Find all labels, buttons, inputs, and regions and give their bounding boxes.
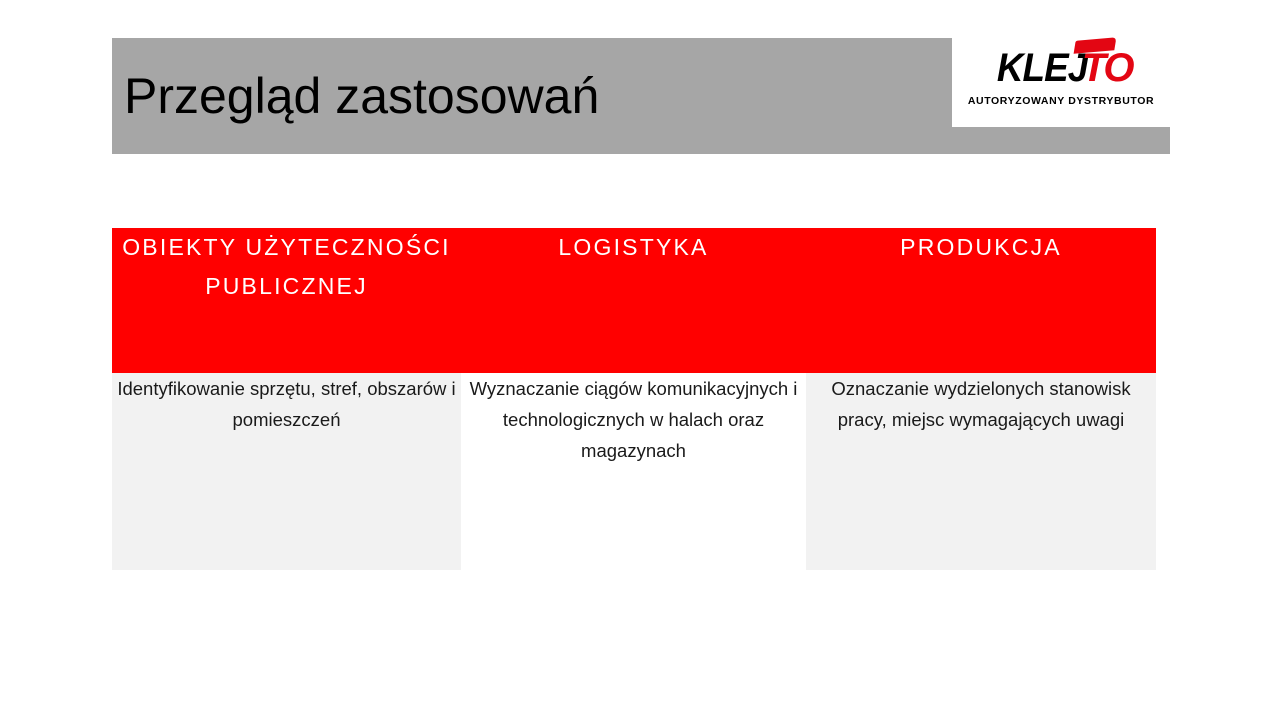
cell-logistyka-body: Wyznaczanie ciągów komunikacyjnych i tec… [461,373,806,570]
page-title: Przegląd zastosowań [124,60,934,132]
column-header-produkcja: PRODUKCJA [806,228,1156,373]
column-header-obiekty: OBIEKTY UŻYTECZNOŚCI PUBLICZNEJ [112,228,461,373]
slide-canvas: Przegląd zastosowań KLEJTO AUTORYZOWANY … [0,0,1280,720]
logo-tagline: AUTORYZOWANY DYSTRYBUTOR [952,95,1170,107]
applications-table: OBIEKTY UŻYTECZNOŚCI PUBLICZNEJ LOGISTYK… [112,228,1156,570]
klejto-logo-icon: KLEJTO AUTORYZOWANY DYSTRYBUTOR [952,33,1170,127]
cell-produkcja-body: Oznaczanie wydzielonych stanowisk pracy,… [806,373,1156,570]
column-header-logistyka: LOGISTYKA [461,228,806,373]
table-header-row: OBIEKTY UŻYTECZNOŚCI PUBLICZNEJ LOGISTYK… [112,228,1156,373]
table-row: Identyfikowanie sprzętu, stref, obszarów… [112,373,1156,570]
logo-container: KLEJTO AUTORYZOWANY DYSTRYBUTOR [952,33,1170,127]
table: OBIEKTY UŻYTECZNOŚCI PUBLICZNEJ LOGISTYK… [112,228,1156,570]
logo-wordmark: KLEJTO [952,45,1170,91]
logo-text-to: TO [1082,45,1133,91]
cell-obiekty-body: Identyfikowanie sprzętu, stref, obszarów… [112,373,461,570]
